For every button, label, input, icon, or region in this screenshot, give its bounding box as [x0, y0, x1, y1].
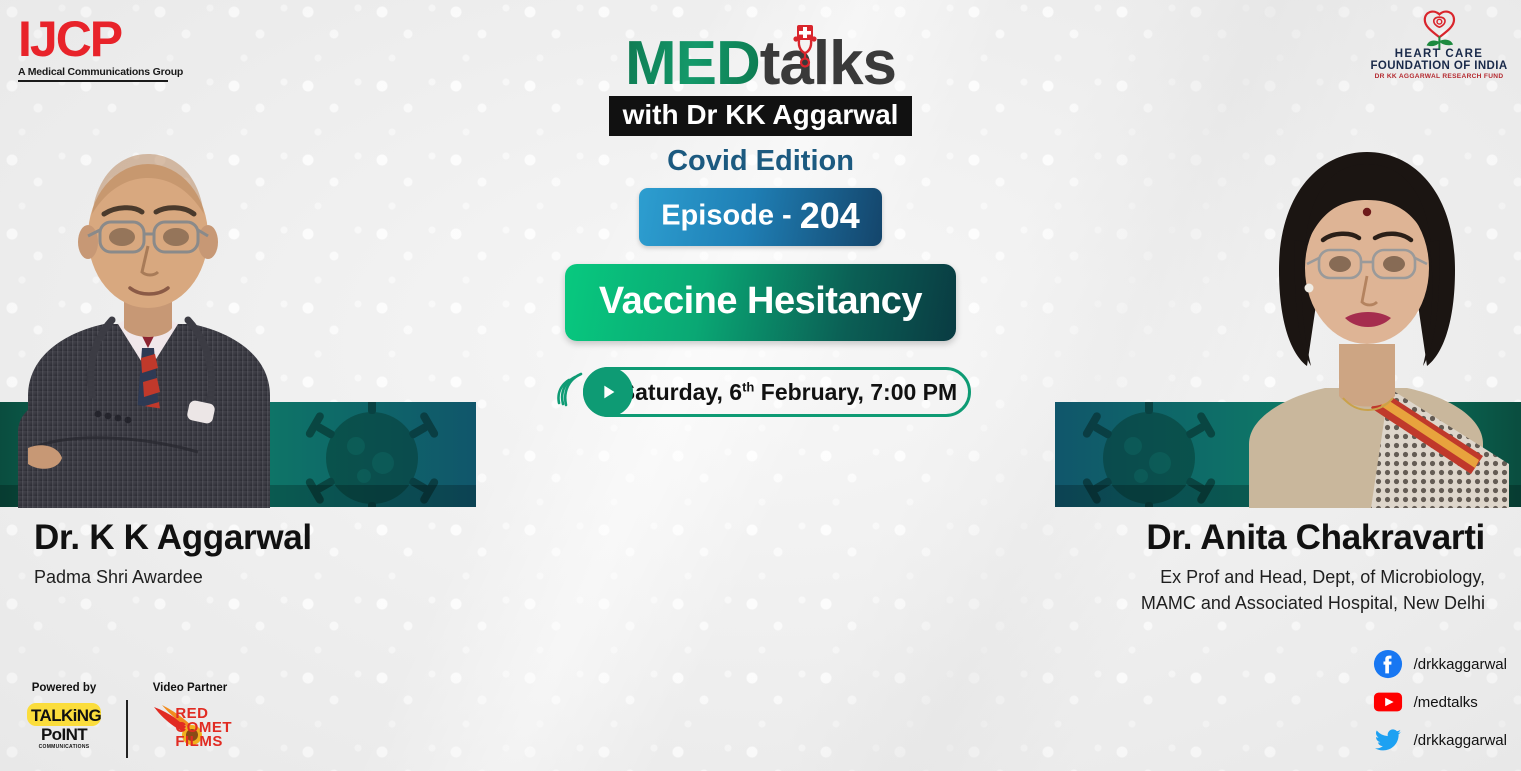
- hcfi-line-3: DR KK AGGARWAL RESEARCH FUND: [1369, 73, 1509, 80]
- talking-point-line3: COMMUNICATIONS: [18, 744, 110, 750]
- ijcp-wordmark: IJCP: [18, 14, 168, 64]
- red-comet-line3: FILMS: [175, 735, 232, 749]
- ijcp-tagline: A Medical Communications Group: [18, 66, 168, 82]
- schedule-rest: February, 7:00 PM: [754, 379, 957, 405]
- speaker-photo-right: [1221, 108, 1509, 508]
- talking-point-line2: PoINT: [18, 726, 110, 744]
- twitter-handle[interactable]: /drkkaggarwal: [1414, 732, 1507, 749]
- episode-number: 204: [800, 195, 860, 236]
- partner-logos: Powered by TALKiNG PoINT COMMUNICATIONS …: [18, 682, 236, 761]
- partner-divider: [126, 700, 128, 758]
- talking-point-line1: TALKiNG: [31, 707, 97, 724]
- schedule-pill: Saturday, 6th February, 7:00 PM: [583, 367, 971, 417]
- social-links: /drkkaggarwal /medtalks /drkkaggarwal: [1373, 649, 1507, 763]
- episode-label: Episode -: [661, 200, 792, 232]
- speaker-name-right: Dr. Anita Chakravarti: [1141, 518, 1485, 558]
- heart-rose-icon: [1412, 8, 1467, 50]
- powered-by-block: Powered by TALKiNG PoINT COMMUNICATIONS: [18, 682, 110, 750]
- facebook-handle[interactable]: /drkkaggarwal: [1414, 656, 1507, 673]
- speaker-photo-left: [0, 96, 310, 508]
- youtube-handle[interactable]: /medtalks: [1414, 694, 1478, 711]
- poster-canvas: IJCP A Medical Communications Group HEAR…: [0, 0, 1521, 771]
- schedule-day: Saturday, 6: [620, 379, 742, 405]
- episode-badge: Episode -204: [639, 188, 882, 246]
- medtalks-logo: MEDtalks: [551, 28, 971, 100]
- topic-title: Vaccine Hesitancy: [599, 280, 922, 323]
- red-comet-logo: RED COMET FILMS: [148, 703, 232, 761]
- schedule-text: Saturday, 6th February, 7:00 PM: [586, 379, 968, 406]
- social-row-facebook[interactable]: /drkkaggarwal: [1373, 649, 1507, 679]
- red-comet-wordmark: RED COMET FILMS: [175, 707, 232, 748]
- speaker-subtitle-right-line2: MAMC and Associated Hospital, New Delhi: [1141, 591, 1485, 617]
- stethoscope-icon: [788, 24, 822, 68]
- hcfi-line-2: FOUNDATION OF INDIA: [1369, 60, 1509, 72]
- play-triangle-icon: [597, 381, 619, 403]
- ijcp-logo: IJCP A Medical Communications Group: [18, 14, 168, 82]
- edition-label: Covid Edition: [551, 145, 971, 178]
- video-partner-label: Video Partner: [144, 682, 236, 694]
- schedule-bar: Saturday, 6th February, 7:00 PM: [551, 367, 971, 421]
- hcfi-line-1: HEART CARE: [1369, 48, 1509, 60]
- powered-by-label: Powered by: [18, 682, 110, 694]
- facebook-icon[interactable]: [1373, 649, 1403, 679]
- speaker-subtitle-right: Ex Prof and Head, Dept, of Microbiology,…: [1141, 565, 1485, 616]
- speaker-subtitle-right-line1: Ex Prof and Head, Dept, of Microbiology,: [1141, 565, 1485, 591]
- social-row-twitter[interactable]: /drkkaggarwal: [1373, 725, 1507, 755]
- twitter-icon[interactable]: [1373, 725, 1403, 755]
- anita-chakravarti-portrait: [1221, 108, 1509, 508]
- center-content: MEDtalks with Dr KK Aggarwal Covid Editi…: [551, 28, 971, 421]
- youtube-icon[interactable]: [1373, 687, 1403, 717]
- speaker-subtitle-left: Padma Shri Awardee: [34, 565, 312, 591]
- talking-point-logo: TALKiNG: [27, 703, 101, 726]
- speaker-info-left: Dr. K K Aggarwal Padma Shri Awardee: [34, 518, 312, 591]
- play-icon[interactable]: [583, 367, 633, 417]
- social-row-youtube[interactable]: /medtalks: [1373, 687, 1507, 717]
- speaker-info-right: Dr. Anita Chakravarti Ex Prof and Head, …: [1141, 518, 1485, 616]
- logo-med-text: MED: [625, 29, 760, 98]
- logo-talks-text: talks: [760, 29, 896, 98]
- host-banner: with Dr KK Aggarwal: [609, 96, 913, 136]
- video-partner-block: Video Partner RED COMET FILMS: [144, 682, 236, 761]
- hcfi-logo: HEART CARE FOUNDATION OF INDIA DR KK AGG…: [1369, 8, 1509, 80]
- schedule-ordinal: th: [742, 379, 754, 394]
- topic-banner: Vaccine Hesitancy: [565, 264, 956, 341]
- speaker-name-left: Dr. K K Aggarwal: [34, 518, 312, 558]
- kk-aggarwal-portrait: [0, 96, 310, 508]
